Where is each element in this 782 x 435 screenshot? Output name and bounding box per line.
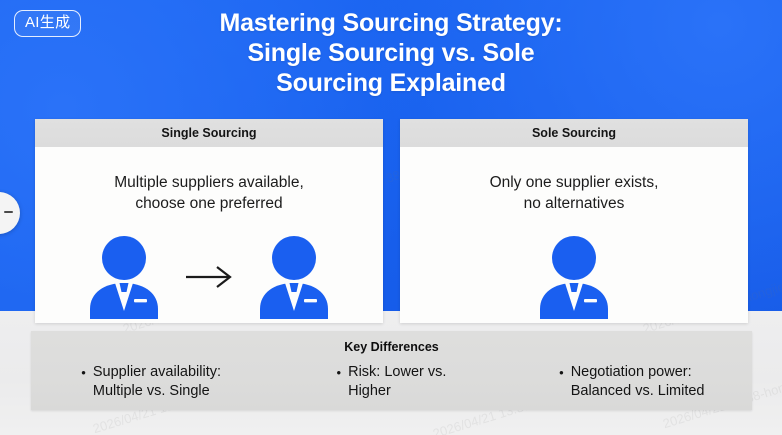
list-item-line-1: Supplier availability: — [93, 363, 221, 382]
description-line-1: Only one supplier exists, — [400, 172, 748, 193]
key-differences-list: • Supplier availability: Multiple vs. Si… — [31, 363, 752, 401]
card-single-sourcing: Single Sourcing Multiple suppliers avail… — [35, 119, 383, 323]
key-difference-column: • Negotiation power: Balanced vs. Limite… — [512, 363, 752, 401]
icon-row-single-sourcing — [35, 235, 383, 319]
card-body-sole-sourcing: Only one supplier exists, no alternative… — [400, 147, 748, 323]
person-icon — [86, 235, 162, 319]
description-line-2: no alternatives — [400, 193, 748, 214]
list-item: • Risk: Lower vs. Higher — [337, 363, 447, 401]
card-header-sole-sourcing: Sole Sourcing — [400, 119, 748, 147]
card-description-single-sourcing: Multiple suppliers available, choose one… — [35, 172, 383, 214]
title-line-3: Sourcing Explained — [0, 68, 782, 98]
minus-icon — [4, 211, 13, 213]
description-line-2: choose one preferred — [35, 193, 383, 214]
bullet-icon: • — [337, 363, 342, 382]
list-item-line-2: Balanced vs. Limited — [571, 382, 705, 401]
list-item: • Supplier availability: Multiple vs. Si… — [81, 363, 221, 401]
list-item: • Negotiation power: Balanced vs. Limite… — [559, 363, 704, 401]
list-item-text: Negotiation power: Balanced vs. Limited — [571, 363, 705, 401]
description-line-1: Multiple suppliers available, — [35, 172, 383, 193]
title-line-1: Mastering Sourcing Strategy: — [0, 8, 782, 38]
bullet-icon: • — [559, 363, 564, 382]
list-item-text: Risk: Lower vs. Higher — [348, 363, 446, 401]
list-item-line-2: Multiple vs. Single — [93, 382, 221, 401]
card-description-sole-sourcing: Only one supplier exists, no alternative… — [400, 172, 748, 214]
key-difference-column: • Risk: Lower vs. Higher — [271, 363, 511, 401]
card-sole-sourcing: Sole Sourcing Only one supplier exists, … — [400, 119, 748, 323]
list-item-text: Supplier availability: Multiple vs. Sing… — [93, 363, 221, 401]
icon-row-sole-sourcing — [400, 235, 748, 319]
key-difference-column: • Supplier availability: Multiple vs. Si… — [31, 363, 271, 401]
list-item-line-1: Risk: Lower vs. — [348, 363, 446, 382]
key-differences-title: Key Differences — [31, 340, 752, 354]
card-header-single-sourcing: Single Sourcing — [35, 119, 383, 147]
key-differences-panel: Key Differences • Supplier availability:… — [31, 331, 752, 410]
page-title: Mastering Sourcing Strategy: Single Sour… — [0, 8, 782, 98]
list-item-line-2: Higher — [348, 382, 446, 401]
slide-canvas: 2026/04/21 13:38-hongjie2026/04/21 13:38… — [0, 0, 782, 435]
person-icon — [536, 235, 612, 319]
list-item-line-1: Negotiation power: — [571, 363, 705, 382]
title-line-2: Single Sourcing vs. Sole — [0, 38, 782, 68]
card-body-single-sourcing: Multiple suppliers available, choose one… — [35, 147, 383, 323]
bullet-icon: • — [81, 363, 86, 382]
arrow-right-icon — [184, 264, 234, 290]
person-icon — [256, 235, 332, 319]
